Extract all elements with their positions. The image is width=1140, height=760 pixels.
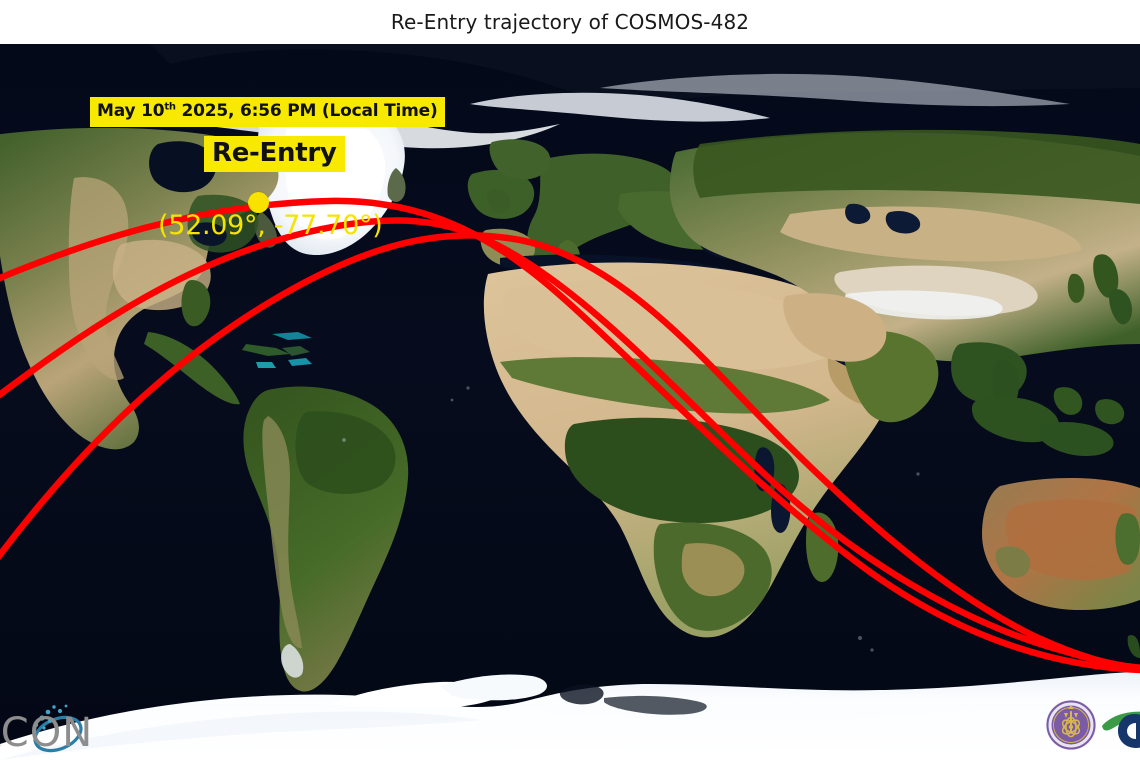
green-g-logo[interactable]: [1100, 704, 1140, 748]
rcon-logo-text: RCON: [0, 710, 93, 756]
rcon-orbit-logo[interactable]: RCON: [0, 696, 124, 758]
world-map-panel[interactable]: May 10th 2025, 6:56 PM (Local Time) Re-E…: [0, 44, 1140, 760]
purple-institutional-seal[interactable]: [1045, 699, 1097, 751]
world-satellite-basemap: [0, 44, 1140, 760]
header-bar: Re-Entry trajectory of COSMOS-482: [0, 0, 1140, 44]
page-title: Re-Entry trajectory of COSMOS-482: [391, 10, 749, 34]
screenshot-root: Re-Entry trajectory of COSMOS-482: [0, 0, 1140, 760]
green-g-icon: [1100, 704, 1140, 748]
